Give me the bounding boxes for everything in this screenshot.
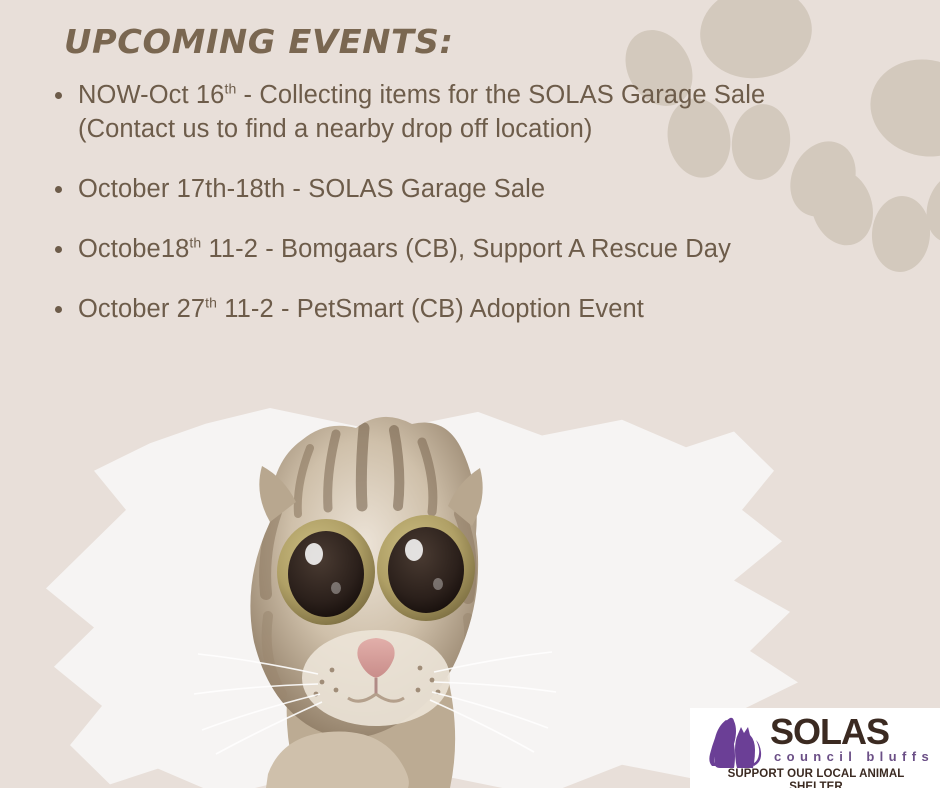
paw-pad: [916, 162, 940, 252]
event-detail: - Collecting items for the SOLAS Garage …: [236, 81, 765, 109]
event-date-prefix: Octobe18: [78, 235, 189, 263]
logo-tagline: SUPPORT OUR LOCAL ANIMAL SHELTER: [704, 768, 928, 788]
logo-wordmark: SOLAS: [770, 714, 889, 750]
events-list: NOW-Oct 16th - Collecting items for the …: [46, 78, 906, 352]
event-date-prefix: October 27: [78, 295, 205, 323]
event-detail: 11-2 - PetSmart (CB) Adoption Event: [217, 295, 644, 323]
cat-photo: [150, 402, 580, 788]
page-title: Upcoming Events:: [64, 22, 454, 61]
event-detail: 11-2 - Bomgaars (CB), Support A Rescue D…: [201, 235, 731, 263]
event-secondary-line: (Contact us to find a nearby drop off lo…: [78, 112, 906, 146]
cat-eye-right: [377, 515, 475, 621]
list-item: October 27th 11-2 - PetSmart (CB) Adopti…: [46, 292, 906, 326]
solas-logo: SOLAS council bluffs SUPPORT OUR LOCAL A…: [690, 708, 940, 788]
logo-subtitle: council bluffs: [774, 750, 934, 764]
paw-pad: [694, 0, 818, 85]
event-date-prefix: NOW-Oct 16: [78, 81, 224, 109]
poster-canvas: Upcoming Events: NOW-Oct 16th - Collecti…: [0, 0, 940, 788]
event-ordinal-suffix: th: [205, 295, 217, 311]
list-item: October 17th-18th - SOLAS Garage Sale: [46, 172, 906, 206]
event-ordinal-suffix: th: [224, 81, 236, 97]
cat-eye-left: [277, 519, 375, 625]
list-item: NOW-Oct 16th - Collecting items for the …: [46, 78, 906, 146]
event-ordinal-suffix: th: [189, 235, 201, 251]
list-item: Octobe18th 11-2 - Bomgaars (CB), Support…: [46, 232, 906, 266]
event-date-prefix: October 17th-18th - SOLAS Garage Sale: [78, 175, 545, 203]
dog-cat-silhouette-icon: [704, 716, 766, 772]
